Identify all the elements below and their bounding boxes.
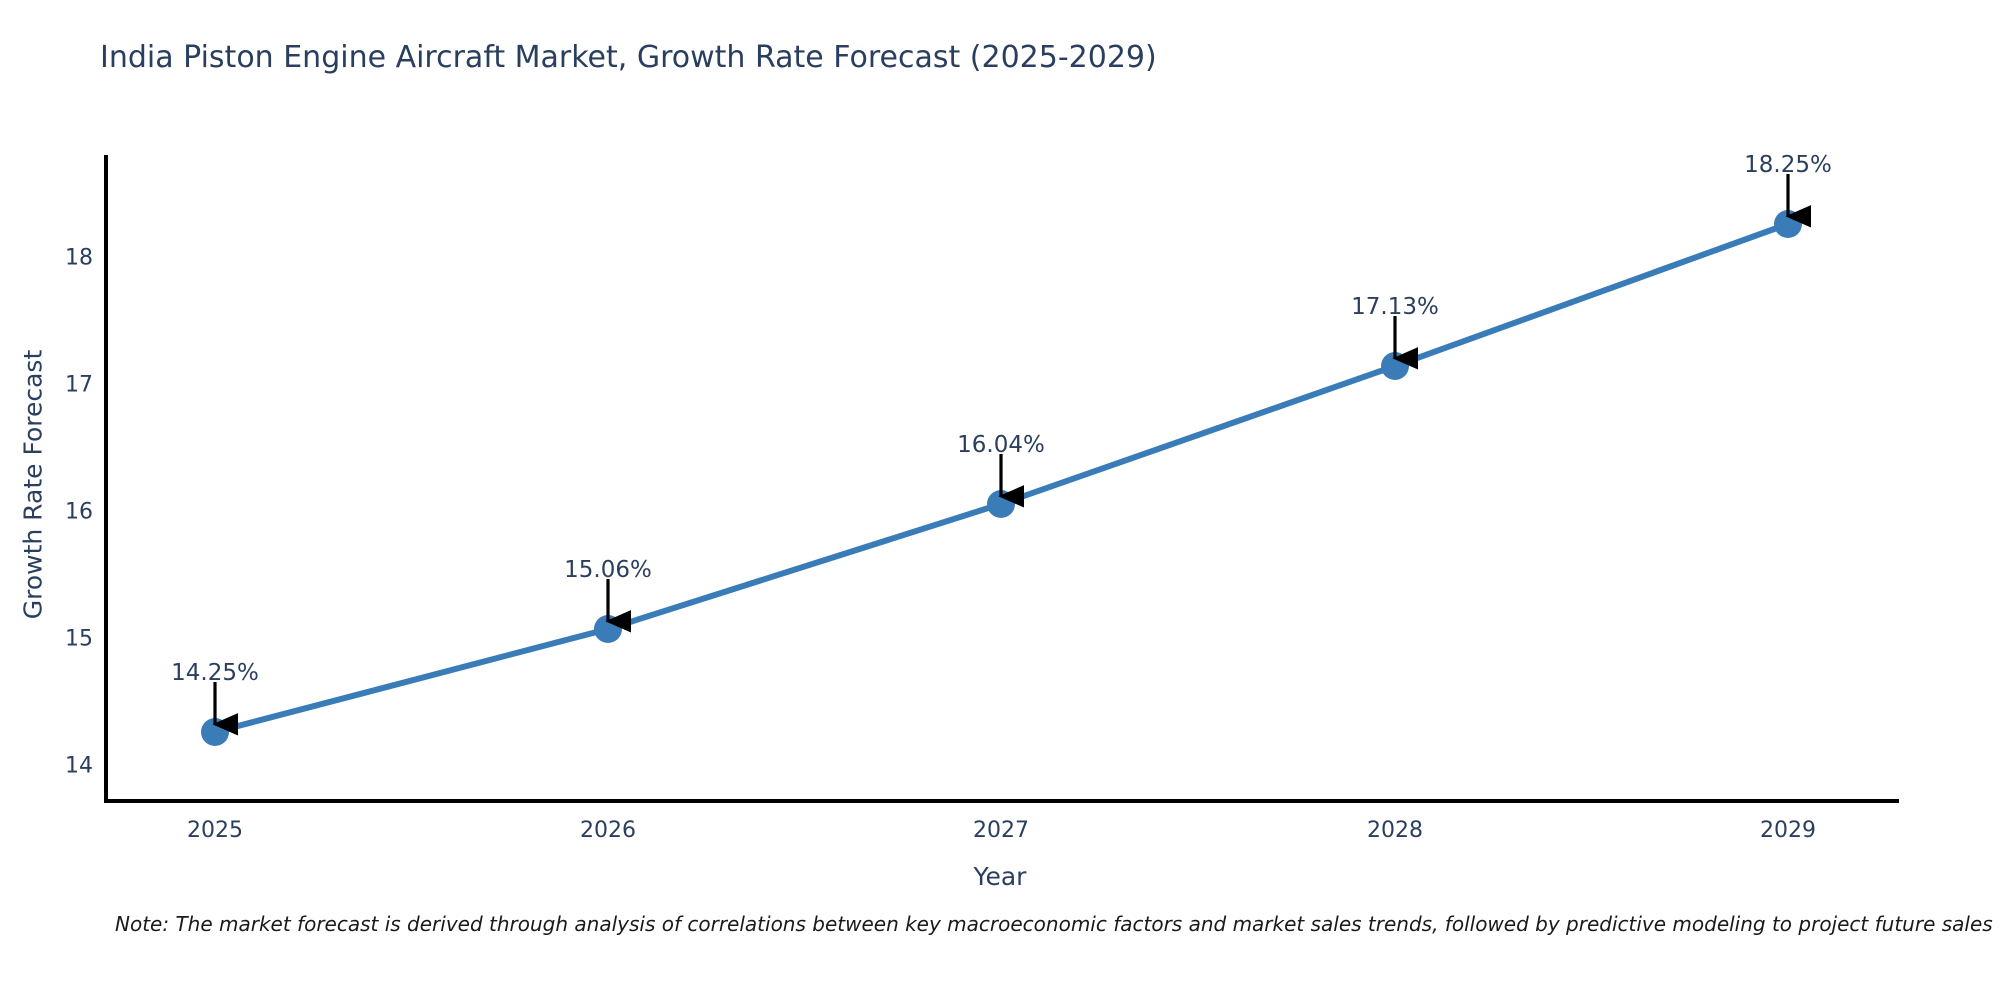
point-label: 18.25%	[1744, 152, 1832, 178]
point-label: 15.06%	[564, 557, 652, 583]
point-label: 17.13%	[1351, 294, 1439, 320]
chart-footnote: Note: The market forecast is derived thr…	[115, 912, 1993, 936]
x-axis-label: Year	[0, 862, 2000, 891]
series-plot	[0, 0, 2000, 1000]
chart-figure: India Piston Engine Aircraft Market, Gro…	[0, 0, 2000, 1000]
point-label: 16.04%	[957, 432, 1045, 458]
point-label: 14.25%	[171, 660, 259, 686]
